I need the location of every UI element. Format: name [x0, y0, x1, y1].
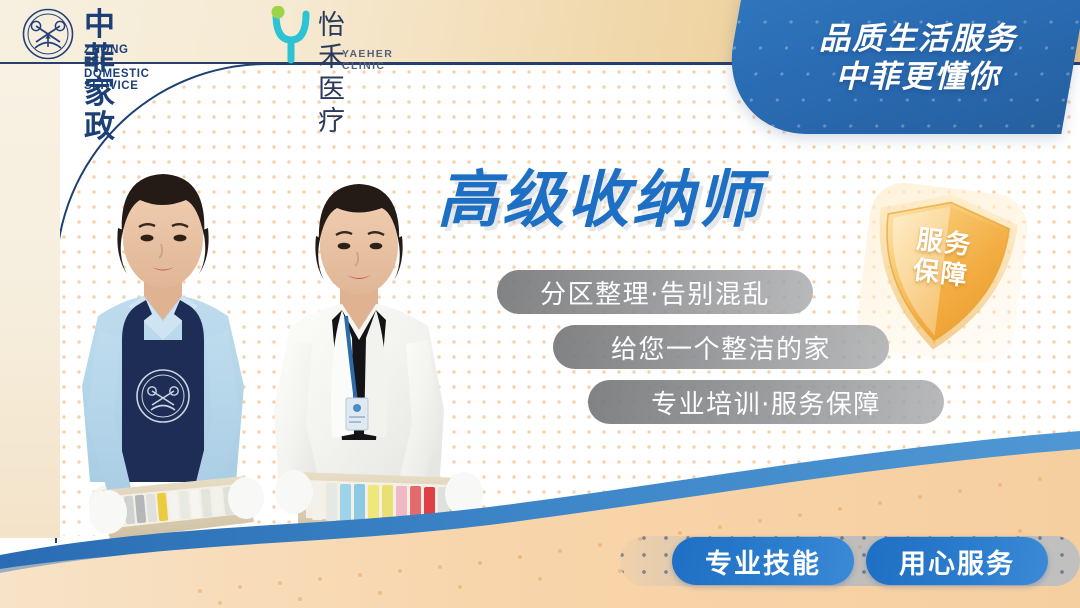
promotional-banner: 中菲家政 ZHONG FEI DOMESTIC SERVICE 怡禾医疗 YAE… — [0, 0, 1080, 608]
partner-name-cn: 怡禾医疗 — [318, 10, 349, 138]
clinic-logo-icon — [267, 6, 315, 64]
feature-pill-1: 分区整理·告别混乱 — [497, 270, 813, 314]
feature-pill-3: 专业培训·服务保障 — [588, 380, 944, 424]
bottom-badge-1: 专业技能 — [672, 537, 854, 585]
slogan-line-1: 品质生活服务 — [762, 20, 1074, 58]
feature-pill-2: 给您一个整洁的家 — [553, 325, 889, 369]
company-seal-icon — [22, 8, 74, 60]
slogan-line-2: 中菲更懂你 — [762, 58, 1074, 96]
brand-name-en: ZHONG FEI DOMESTIC SERVICE — [84, 44, 150, 92]
main-title: 高级收纳师 — [437, 163, 762, 237]
partner-name-en: YAEHER CLINIC — [342, 48, 393, 72]
bottom-badge-2: 用心服务 — [866, 537, 1048, 585]
slogan-text: 品质生活服务 中菲更懂你 — [762, 20, 1074, 96]
